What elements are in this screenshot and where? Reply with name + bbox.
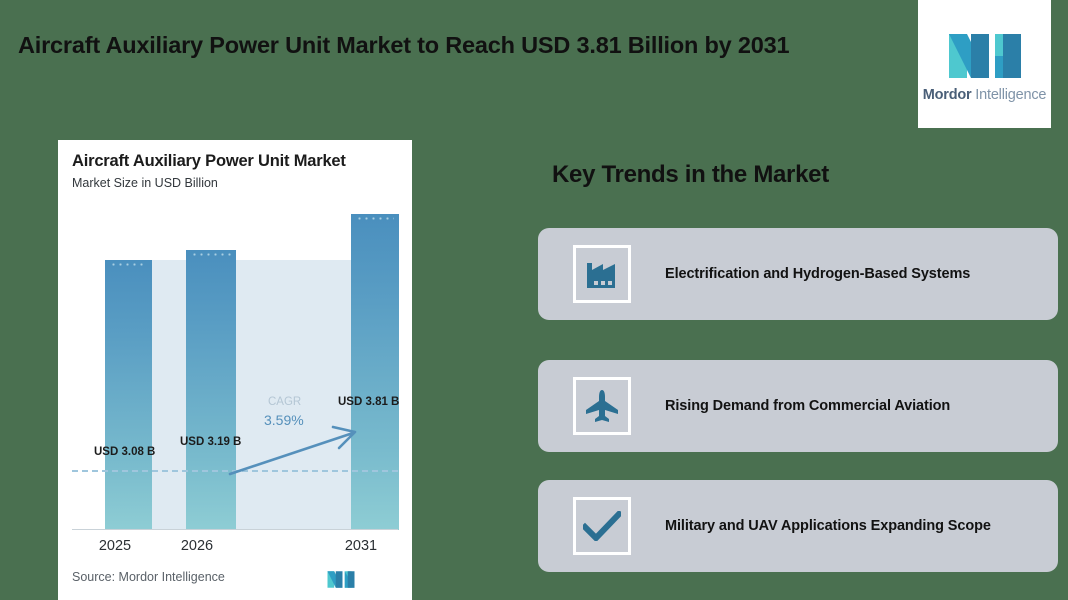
bar-value-label-2025: USD 3.08 B: [94, 446, 155, 458]
brand-word-bold: Mordor: [923, 87, 972, 103]
bar-2031[interactable]: [351, 214, 399, 530]
cagr-label: CAGR: [268, 396, 301, 408]
filler-bar-1: [152, 260, 186, 530]
chart-plot-area: USD 3.08 B USD 3.19 B USD 3.81 B CAGR 3.…: [72, 200, 398, 530]
factory-icon: [573, 245, 631, 303]
checkmark-icon: [573, 497, 631, 555]
brand-logo: Mordor Intelligence: [918, 0, 1051, 128]
chart-card: Aircraft Auxiliary Power Unit Market Mar…: [58, 140, 412, 600]
page-title: Aircraft Auxiliary Power Unit Market to …: [18, 30, 878, 61]
trend-card-military-uav[interactable]: Military and UAV Applications Expanding …: [538, 480, 1058, 572]
bar-texture: [110, 263, 147, 266]
brand-wordmark: Mordor Intelligence: [923, 87, 1047, 103]
source-text: Source: Mordor Intelligence: [72, 570, 225, 584]
chart-source-row: Source: Mordor Intelligence: [72, 568, 398, 590]
trend-label-3: Military and UAV Applications Expanding …: [665, 518, 991, 534]
trend-label-2: Rising Demand from Commercial Aviation: [665, 398, 950, 414]
chart-title: Aircraft Auxiliary Power Unit Market: [72, 152, 346, 171]
source-logo-icon: [326, 568, 356, 588]
bar-texture: [356, 217, 394, 220]
filler-bar-2: [236, 260, 351, 530]
checkmark-icon-glyph: [583, 511, 621, 541]
mordor-logo-mark: [945, 26, 1025, 78]
x-tick-2025: 2025: [85, 538, 145, 554]
trend-card-electrification[interactable]: Electrification and Hydrogen-Based Syste…: [538, 228, 1058, 320]
trend-card-commercial-aviation[interactable]: Rising Demand from Commercial Aviation: [538, 360, 1058, 452]
chart-subtitle: Market Size in USD Billion: [72, 176, 218, 190]
trend-label-1: Electrification and Hydrogen-Based Syste…: [665, 266, 970, 282]
x-tick-2026: 2026: [167, 538, 227, 554]
cagr-growth-arrow: [227, 422, 367, 478]
airplane-icon-glyph: [584, 389, 620, 423]
x-tick-2031: 2031: [331, 538, 391, 554]
bar-2026[interactable]: [186, 250, 236, 530]
x-axis-line: [72, 529, 398, 530]
factory-icon-glyph: [585, 259, 619, 289]
trends-heading: Key Trends in the Market: [552, 161, 829, 189]
bar-value-label-2031: USD 3.81 B: [338, 396, 399, 408]
bar-2025[interactable]: [105, 260, 152, 530]
brand-word-light: Intelligence: [971, 87, 1046, 103]
bar-texture: [191, 253, 231, 256]
airplane-icon: [573, 377, 631, 435]
